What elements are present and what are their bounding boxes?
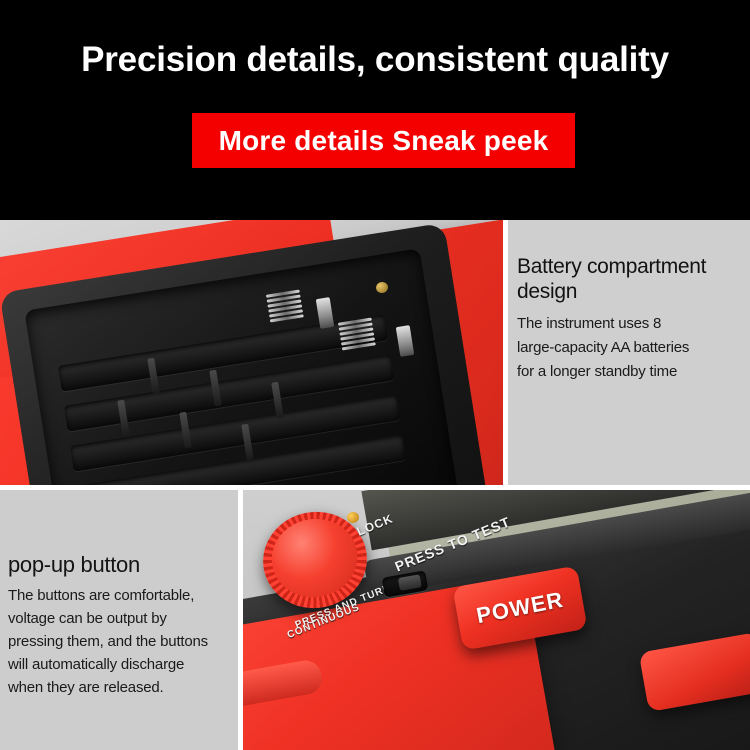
hero-banner: Precision details, consistent quality Mo… bbox=[0, 0, 750, 220]
product-detail-page: Precision details, consistent quality Mo… bbox=[0, 0, 750, 750]
battery-compartment-photo bbox=[0, 220, 503, 488]
power-button-label: POWER bbox=[474, 587, 565, 629]
popup-section-body: The buttons are comfortable, voltage can… bbox=[8, 584, 233, 699]
battery-section-body: The instrument uses 8 large-capacity AA … bbox=[517, 312, 744, 384]
battery-body-line: large-capacity AA batteries bbox=[517, 336, 744, 360]
popup-body-line: pressing them, and the buttons bbox=[8, 630, 233, 653]
battery-spring-contact bbox=[266, 290, 304, 325]
popup-section-heading: pop-up button bbox=[8, 552, 233, 578]
popup-body-line: will automatically discharge bbox=[8, 653, 233, 676]
battery-section-heading: Battery compartment design bbox=[517, 254, 744, 304]
sneak-peek-badge-label: More details Sneak peek bbox=[219, 125, 549, 157]
section-popup-button: pop-up button The buttons are comfortabl… bbox=[0, 490, 750, 750]
section-battery-compartment: Battery compartment design The instrumen… bbox=[0, 220, 750, 488]
meter-faceplate-photo: LOCK PRESS TO TEST PRESS AND TURN FOR CO… bbox=[243, 490, 750, 750]
battery-body-line: The instrument uses 8 bbox=[517, 312, 744, 336]
sneak-peek-badge: More details Sneak peek bbox=[192, 113, 575, 168]
battery-body-line: for a longer standby time bbox=[517, 360, 744, 384]
battery-text-panel: Battery compartment design The instrumen… bbox=[508, 220, 750, 488]
popup-body-line: when they are released. bbox=[8, 676, 233, 699]
popup-body-line: The buttons are comfortable, bbox=[8, 584, 233, 607]
popup-text-panel: pop-up button The buttons are comfortabl… bbox=[0, 490, 241, 750]
popup-body-line: voltage can be output by bbox=[8, 607, 233, 630]
rotary-knob-cap bbox=[266, 512, 364, 604]
battery-spring-contact bbox=[338, 318, 376, 353]
page-title: Precision details, consistent quality bbox=[0, 40, 750, 80]
